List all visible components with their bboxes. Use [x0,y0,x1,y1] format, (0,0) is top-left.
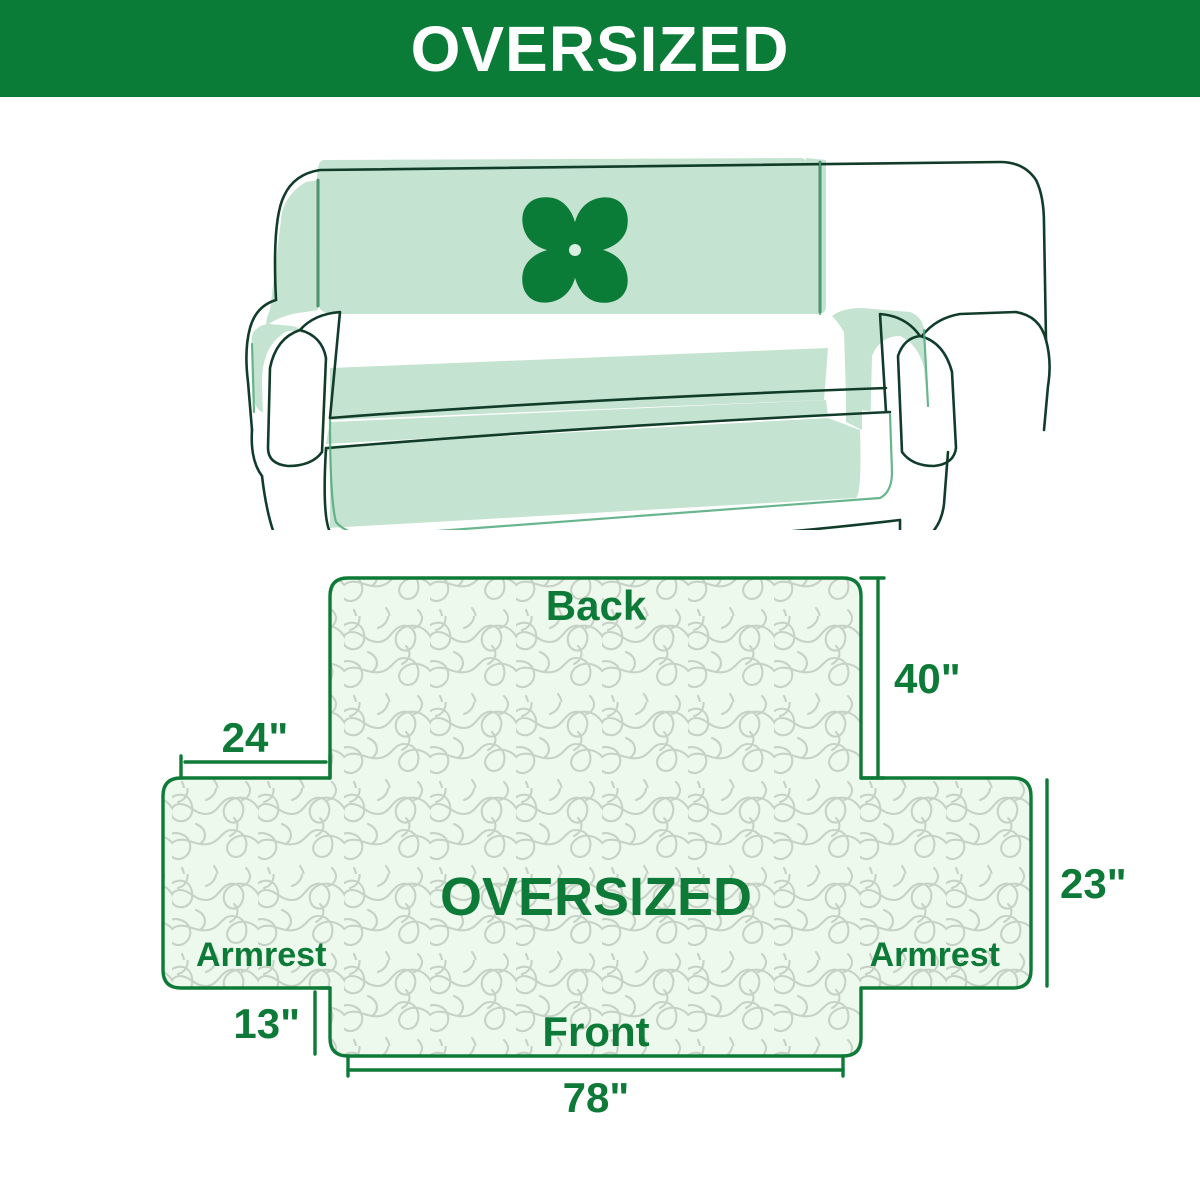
dimension-label-40: 40" [894,655,961,702]
layout-svg: Back Front Armrest Armrest OVERSIZED 40"… [0,530,1200,1200]
sofa-illustration [0,100,1200,530]
layout-diagram: Back Front Armrest Armrest OVERSIZED 40"… [0,530,1200,1200]
dimension-label-78: 78" [563,1074,630,1121]
panel-label-front: Front [542,1008,649,1055]
page-title: OVERSIZED [411,17,790,81]
dimension-armrest-height: 23" [1047,780,1127,986]
sofa-svg [0,100,1200,530]
dimension-label-24: 24" [222,714,289,761]
cover-shape [163,578,1031,1056]
panel-label-armrest-right: Armrest [870,936,1000,974]
center-label-oversized: OVERSIZED [440,867,752,927]
dimension-total-width: 78" [348,1056,843,1121]
dimension-armrest-width: 24" [181,714,330,778]
header-banner: OVERSIZED [0,0,1200,97]
dimension-label-23: 23" [1060,860,1127,907]
dimension-back-height: 40" [861,578,961,778]
dimension-label-13: 13" [233,1000,300,1047]
panel-label-armrest-left: Armrest [196,936,326,974]
panel-label-back: Back [546,582,647,629]
dimension-front-drop: 13" [233,988,330,1054]
